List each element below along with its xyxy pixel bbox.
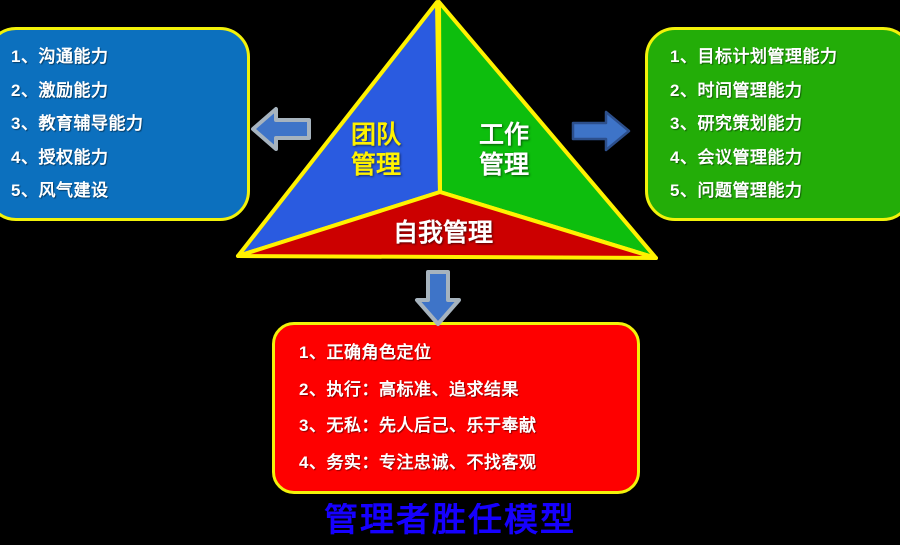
diagram-canvas: 1、沟通能力 2、激励能力 3、教育辅导能力 4、授权能力 5、风气建设 1、目… bbox=[0, 0, 900, 545]
list-item: 4、务实：专注忠诚、不找客观 bbox=[299, 453, 637, 473]
list-item: 5、问题管理能力 bbox=[670, 181, 900, 201]
down-arrow-icon bbox=[408, 268, 468, 333]
list-item: 2、执行：高标准、追求结果 bbox=[299, 380, 637, 400]
page-title: 管理者胜任模型 bbox=[0, 503, 900, 545]
list-item: 3、研究策划能力 bbox=[670, 114, 900, 134]
list-item: 1、目标计划管理能力 bbox=[670, 47, 900, 67]
list-item: 4、会议管理能力 bbox=[670, 148, 900, 168]
team-management-capability-box[interactable]: 1、沟通能力 2、激励能力 3、教育辅导能力 4、授权能力 5、风气建设 bbox=[0, 27, 250, 221]
list-item: 2、激励能力 bbox=[11, 81, 247, 101]
list-item: 1、正确角色定位 bbox=[299, 343, 637, 363]
list-item: 5、风气建设 bbox=[11, 181, 247, 201]
list-item: 4、授权能力 bbox=[11, 148, 247, 168]
list-item: 3、无私：先人后己、乐于奉献 bbox=[299, 416, 637, 436]
list-item: 3、教育辅导能力 bbox=[11, 114, 247, 134]
right-arrow-icon bbox=[570, 108, 632, 159]
list-item: 2、时间管理能力 bbox=[670, 81, 900, 101]
left-arrow-icon bbox=[250, 104, 312, 159]
list-item: 1、沟通能力 bbox=[11, 47, 247, 67]
self-management-capability-box[interactable]: 1、正确角色定位 2、执行：高标准、追求结果 3、无私：先人后己、乐于奉献 4、… bbox=[272, 322, 640, 494]
work-management-capability-box[interactable]: 1、目标计划管理能力 2、时间管理能力 3、研究策划能力 4、会议管理能力 5、… bbox=[645, 27, 900, 221]
pyramid-center-edge bbox=[438, 2, 440, 192]
